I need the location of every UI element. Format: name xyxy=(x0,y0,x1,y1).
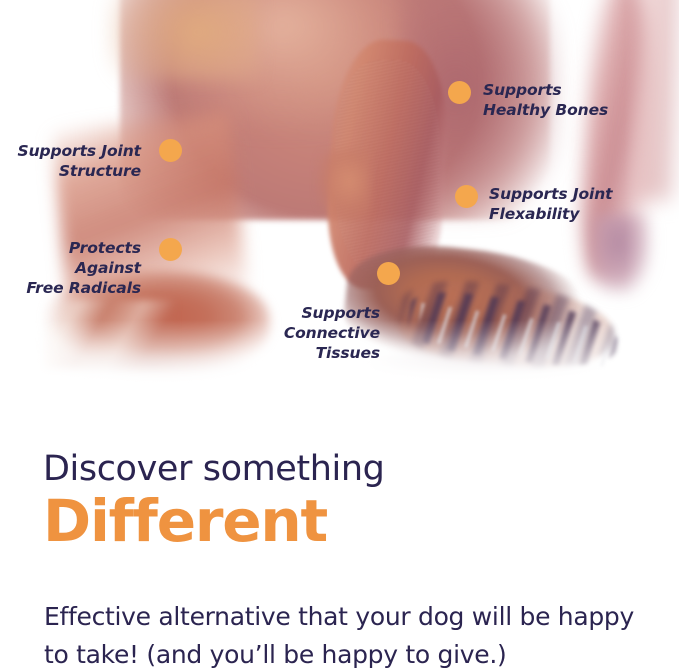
background-leg-foot xyxy=(592,215,652,295)
headline-block: Discover something Different xyxy=(43,452,384,552)
callout-label-joint-flexability: Supports Joint Flexability xyxy=(489,184,679,224)
callout-joint-flexability: Supports Joint Flexability xyxy=(489,184,679,224)
callout-label-connective-tissues: Supports Connective Tissues xyxy=(229,303,380,363)
callout-joint-structure: Supports Joint Structure xyxy=(0,141,141,181)
marketing-copy-section: Discover something Different Effective a… xyxy=(0,400,679,672)
callout-label-free-radicals: Protects Against Free Radicals xyxy=(0,238,141,298)
dog-legs-photo: Supports Joint Structure Protects Agains… xyxy=(0,0,679,400)
dog-right-ankle xyxy=(318,150,370,220)
callout-dot-connective-tissues xyxy=(377,262,400,285)
callout-healthy-bones: Supports Healthy Bones xyxy=(483,80,679,120)
headline-line-2: Different xyxy=(43,491,384,552)
callout-connective-tissues: Supports Connective Tissues xyxy=(229,303,380,363)
subcopy-text: Effective alternative that your dog will… xyxy=(44,598,654,672)
dog-body-tan-patch xyxy=(108,0,258,80)
callout-dot-healthy-bones xyxy=(448,81,471,104)
infographic-page: Supports Joint Structure Protects Agains… xyxy=(0,0,679,672)
dog-left-paw-shadow xyxy=(60,355,250,379)
callout-free-radicals: Protects Against Free Radicals xyxy=(0,238,141,298)
callout-dot-free-radicals xyxy=(159,238,182,261)
headline-line-1: Discover something xyxy=(43,452,384,487)
callout-dot-joint-structure xyxy=(159,139,182,162)
callout-dot-joint-flexability xyxy=(455,185,478,208)
callout-label-joint-structure: Supports Joint Structure xyxy=(0,141,141,181)
callout-label-healthy-bones: Supports Healthy Bones xyxy=(483,80,679,120)
dog-right-paw-shadow xyxy=(370,352,600,378)
